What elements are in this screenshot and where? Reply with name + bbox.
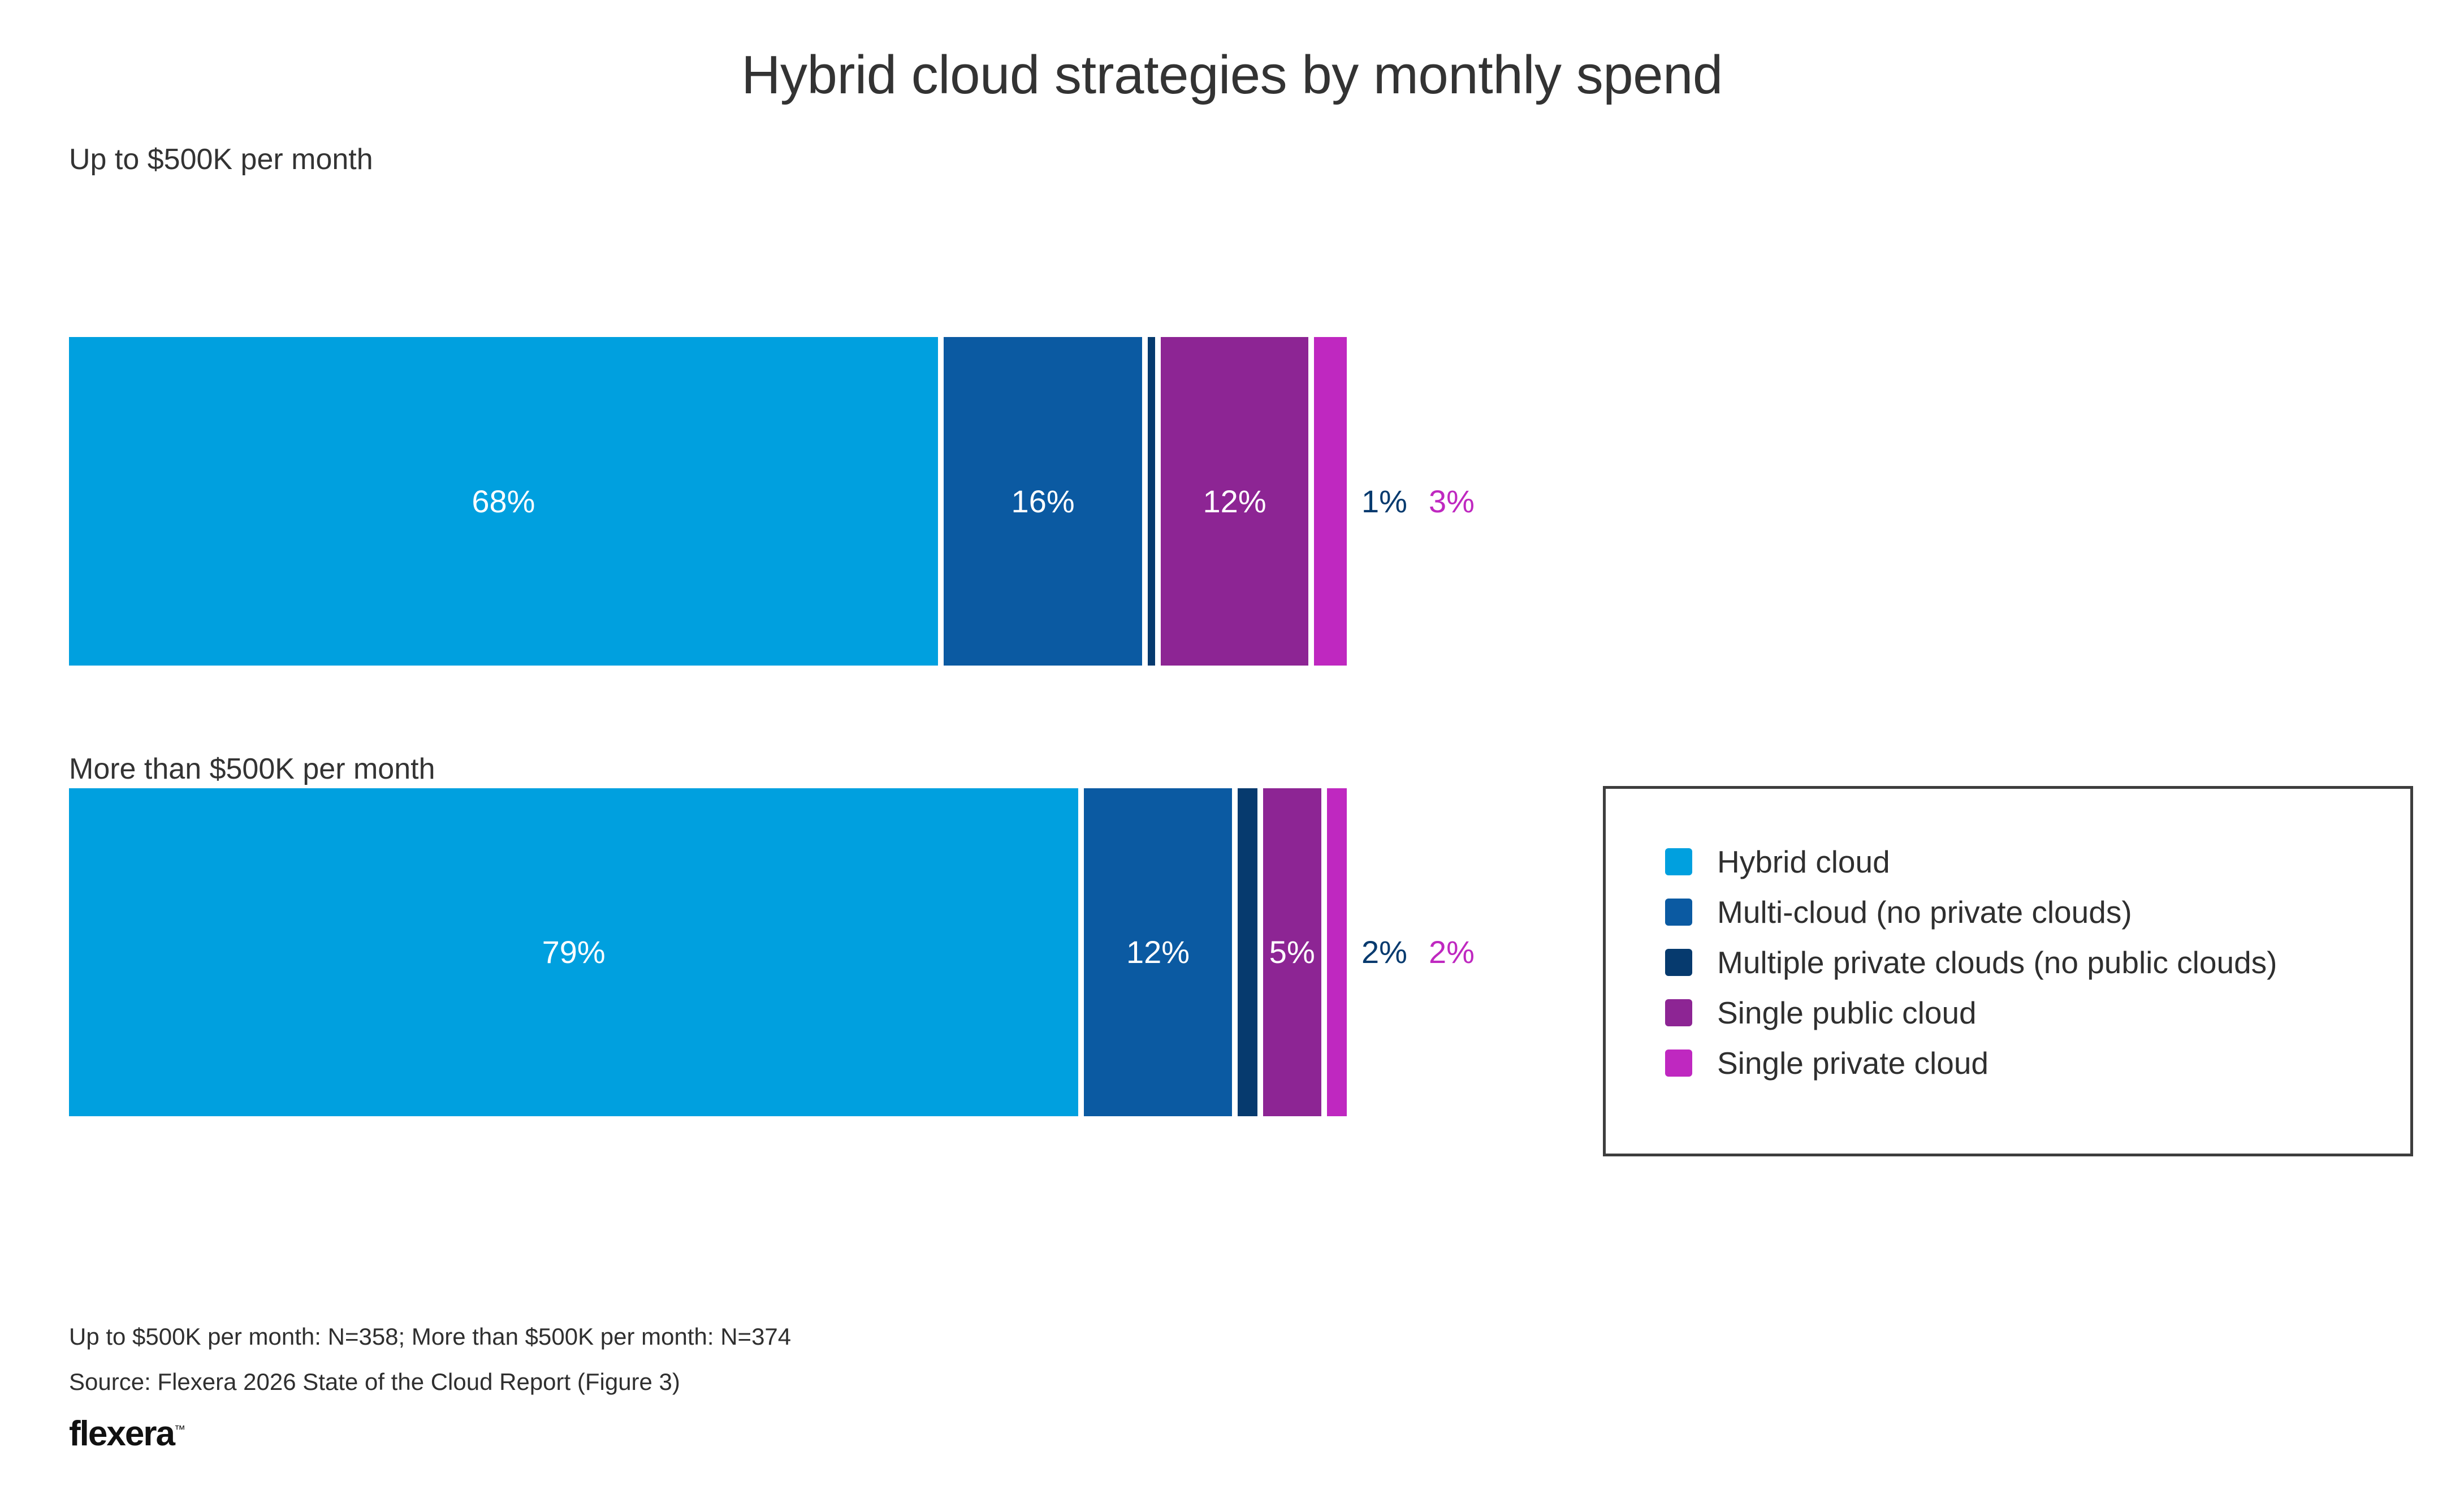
legend-label: Single public cloud	[1717, 997, 1977, 1029]
bar-group-label-up-to-500k: Up to $500K per month	[69, 142, 373, 176]
legend-item[interactable]: Multi-cloud (no private clouds)	[1665, 895, 2277, 930]
segment-value-label: 16%	[1011, 486, 1075, 517]
segment-value-label: 79%	[542, 936, 606, 968]
legend-item[interactable]: Multiple private clouds (no public cloud…	[1665, 945, 2277, 980]
legend-swatch-icon	[1665, 1050, 1692, 1077]
legend-item[interactable]: Single public cloud	[1665, 995, 2277, 1030]
stacked-bar-track: 79%12%5%	[69, 788, 1347, 1116]
segment-value-label: 68%	[472, 486, 535, 517]
stacked-bar-track: 68%16%12%	[69, 337, 1347, 666]
legend-swatch-icon	[1665, 949, 1692, 976]
bar-segment: 68%	[69, 337, 938, 666]
segment-value-label: 12%	[1126, 936, 1190, 968]
bar-group-label-more-than-500k: More than $500K per month	[69, 752, 435, 786]
segment-value-label: 12%	[1203, 486, 1266, 517]
legend-swatch-icon	[1665, 848, 1692, 875]
bar-segment: 12%	[1084, 788, 1231, 1116]
legend-swatch-icon	[1665, 899, 1692, 926]
legend: Hybrid cloudMulti-cloud (no private clou…	[1603, 786, 2413, 1156]
bar-segment: 79%	[69, 788, 1078, 1116]
outside-label-multiple-private-clouds: 2%	[1361, 936, 1407, 968]
bar-segment	[1148, 337, 1155, 666]
footnote-source: Source: Flexera 2026 State of the Cloud …	[69, 1368, 680, 1396]
page-title: Hybrid cloud strategies by monthly spend	[0, 44, 2464, 106]
bar-segment: 5%	[1263, 788, 1321, 1116]
outside-value-labels: 1% 3%	[1361, 486, 1475, 517]
bar-group-more-than-500k: 79%12%5% 2% 2%	[69, 788, 1347, 1116]
legend-list: Hybrid cloudMulti-cloud (no private clou…	[1665, 844, 2277, 1081]
trademark-symbol: ™	[174, 1423, 185, 1436]
brand-wordmark: flexera	[69, 1414, 174, 1453]
legend-label: Single private cloud	[1717, 1048, 1989, 1079]
bar-segment: 16%	[944, 337, 1143, 666]
outside-label-multiple-private-clouds: 1%	[1361, 486, 1407, 517]
legend-label: Multiple private clouds (no public cloud…	[1717, 947, 2277, 978]
bar-segment: 12%	[1161, 337, 1308, 666]
segment-value-label: 5%	[1269, 936, 1315, 968]
outside-label-single-private-cloud: 3%	[1429, 486, 1475, 517]
footnote-sample-sizes: Up to $500K per month: N=358; More than …	[69, 1323, 791, 1350]
legend-label: Multi-cloud (no private clouds)	[1717, 897, 2132, 928]
bar-group-up-to-500k: 68%16%12% 1% 3%	[69, 337, 1347, 666]
flexera-logo: flexera™	[69, 1414, 185, 1454]
outside-label-single-private-cloud: 2%	[1429, 936, 1475, 968]
legend-item[interactable]: Hybrid cloud	[1665, 844, 2277, 879]
outside-value-labels: 2% 2%	[1361, 936, 1475, 968]
bar-segment	[1314, 337, 1347, 666]
legend-label: Hybrid cloud	[1717, 847, 1890, 878]
legend-item[interactable]: Single private cloud	[1665, 1046, 2277, 1081]
legend-swatch-icon	[1665, 999, 1692, 1026]
bar-segment	[1238, 788, 1257, 1116]
bar-segment	[1327, 788, 1347, 1116]
